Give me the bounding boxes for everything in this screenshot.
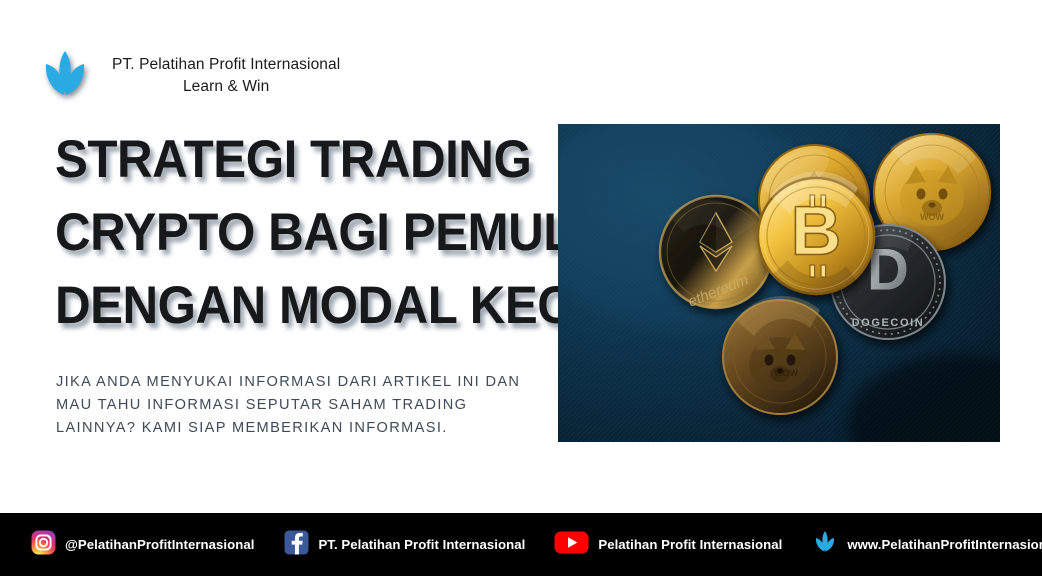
- website-url[interactable]: www.PelatihanProfitInternasional.com: [847, 537, 1042, 552]
- svg-text:DOGECOIN: DOGECOIN: [852, 317, 925, 329]
- ethereum-coin: ethereum: [660, 196, 772, 311]
- instagram-icon[interactable]: [31, 530, 56, 560]
- lotus-logo-icon[interactable]: [812, 529, 838, 560]
- svg-text:WOW: WOW: [774, 368, 798, 378]
- page-title: STRATEGI TRADING CRYPTO BAGI PEMULA DENG…: [55, 123, 555, 342]
- facebook-icon[interactable]: [284, 530, 309, 560]
- company-tagline: Learn & Win: [112, 76, 340, 98]
- facebook-page-name[interactable]: PT. Pelatihan Profit Internasional: [318, 537, 525, 552]
- title-line-2: CRYPTO BAGI PEMULA: [55, 196, 520, 269]
- footer-item-youtube[interactable]: Pelatihan Profit Internasional: [554, 530, 782, 560]
- footer-item-instagram[interactable]: @PelatihanProfitInternasional: [31, 530, 254, 560]
- lotus-logo-icon: [34, 44, 96, 108]
- footer-item-facebook[interactable]: PT. Pelatihan Profit Internasional: [284, 530, 525, 560]
- svg-text:WOW: WOW: [920, 212, 944, 222]
- brand-text-block: PT. Pelatihan Profit Internasional Learn…: [112, 54, 340, 98]
- social-footer-bar: @PelatihanProfitInternasional PT. Pelati…: [0, 513, 1042, 576]
- subtitle-text: Jika Anda menyukai informasi dari artike…: [56, 371, 536, 439]
- youtube-icon[interactable]: [554, 530, 589, 560]
- bitcoin-coin: B: [758, 171, 874, 296]
- youtube-channel-name[interactable]: Pelatihan Profit Internasional: [598, 537, 782, 552]
- company-name: PT. Pelatihan Profit Internasional: [112, 56, 340, 73]
- cryptocurrency-coins-photo: ethereum: [558, 124, 1000, 442]
- instagram-handle[interactable]: @PelatihanProfitInternasional: [65, 537, 254, 552]
- title-line-1: STRATEGI TRADING: [55, 123, 520, 196]
- footer-item-website[interactable]: www.PelatihanProfitInternasional.com: [812, 529, 1042, 560]
- title-line-3: DENGAN MODAL KECIL: [55, 269, 520, 342]
- brand-header: PT. Pelatihan Profit Internasional Learn…: [34, 44, 340, 108]
